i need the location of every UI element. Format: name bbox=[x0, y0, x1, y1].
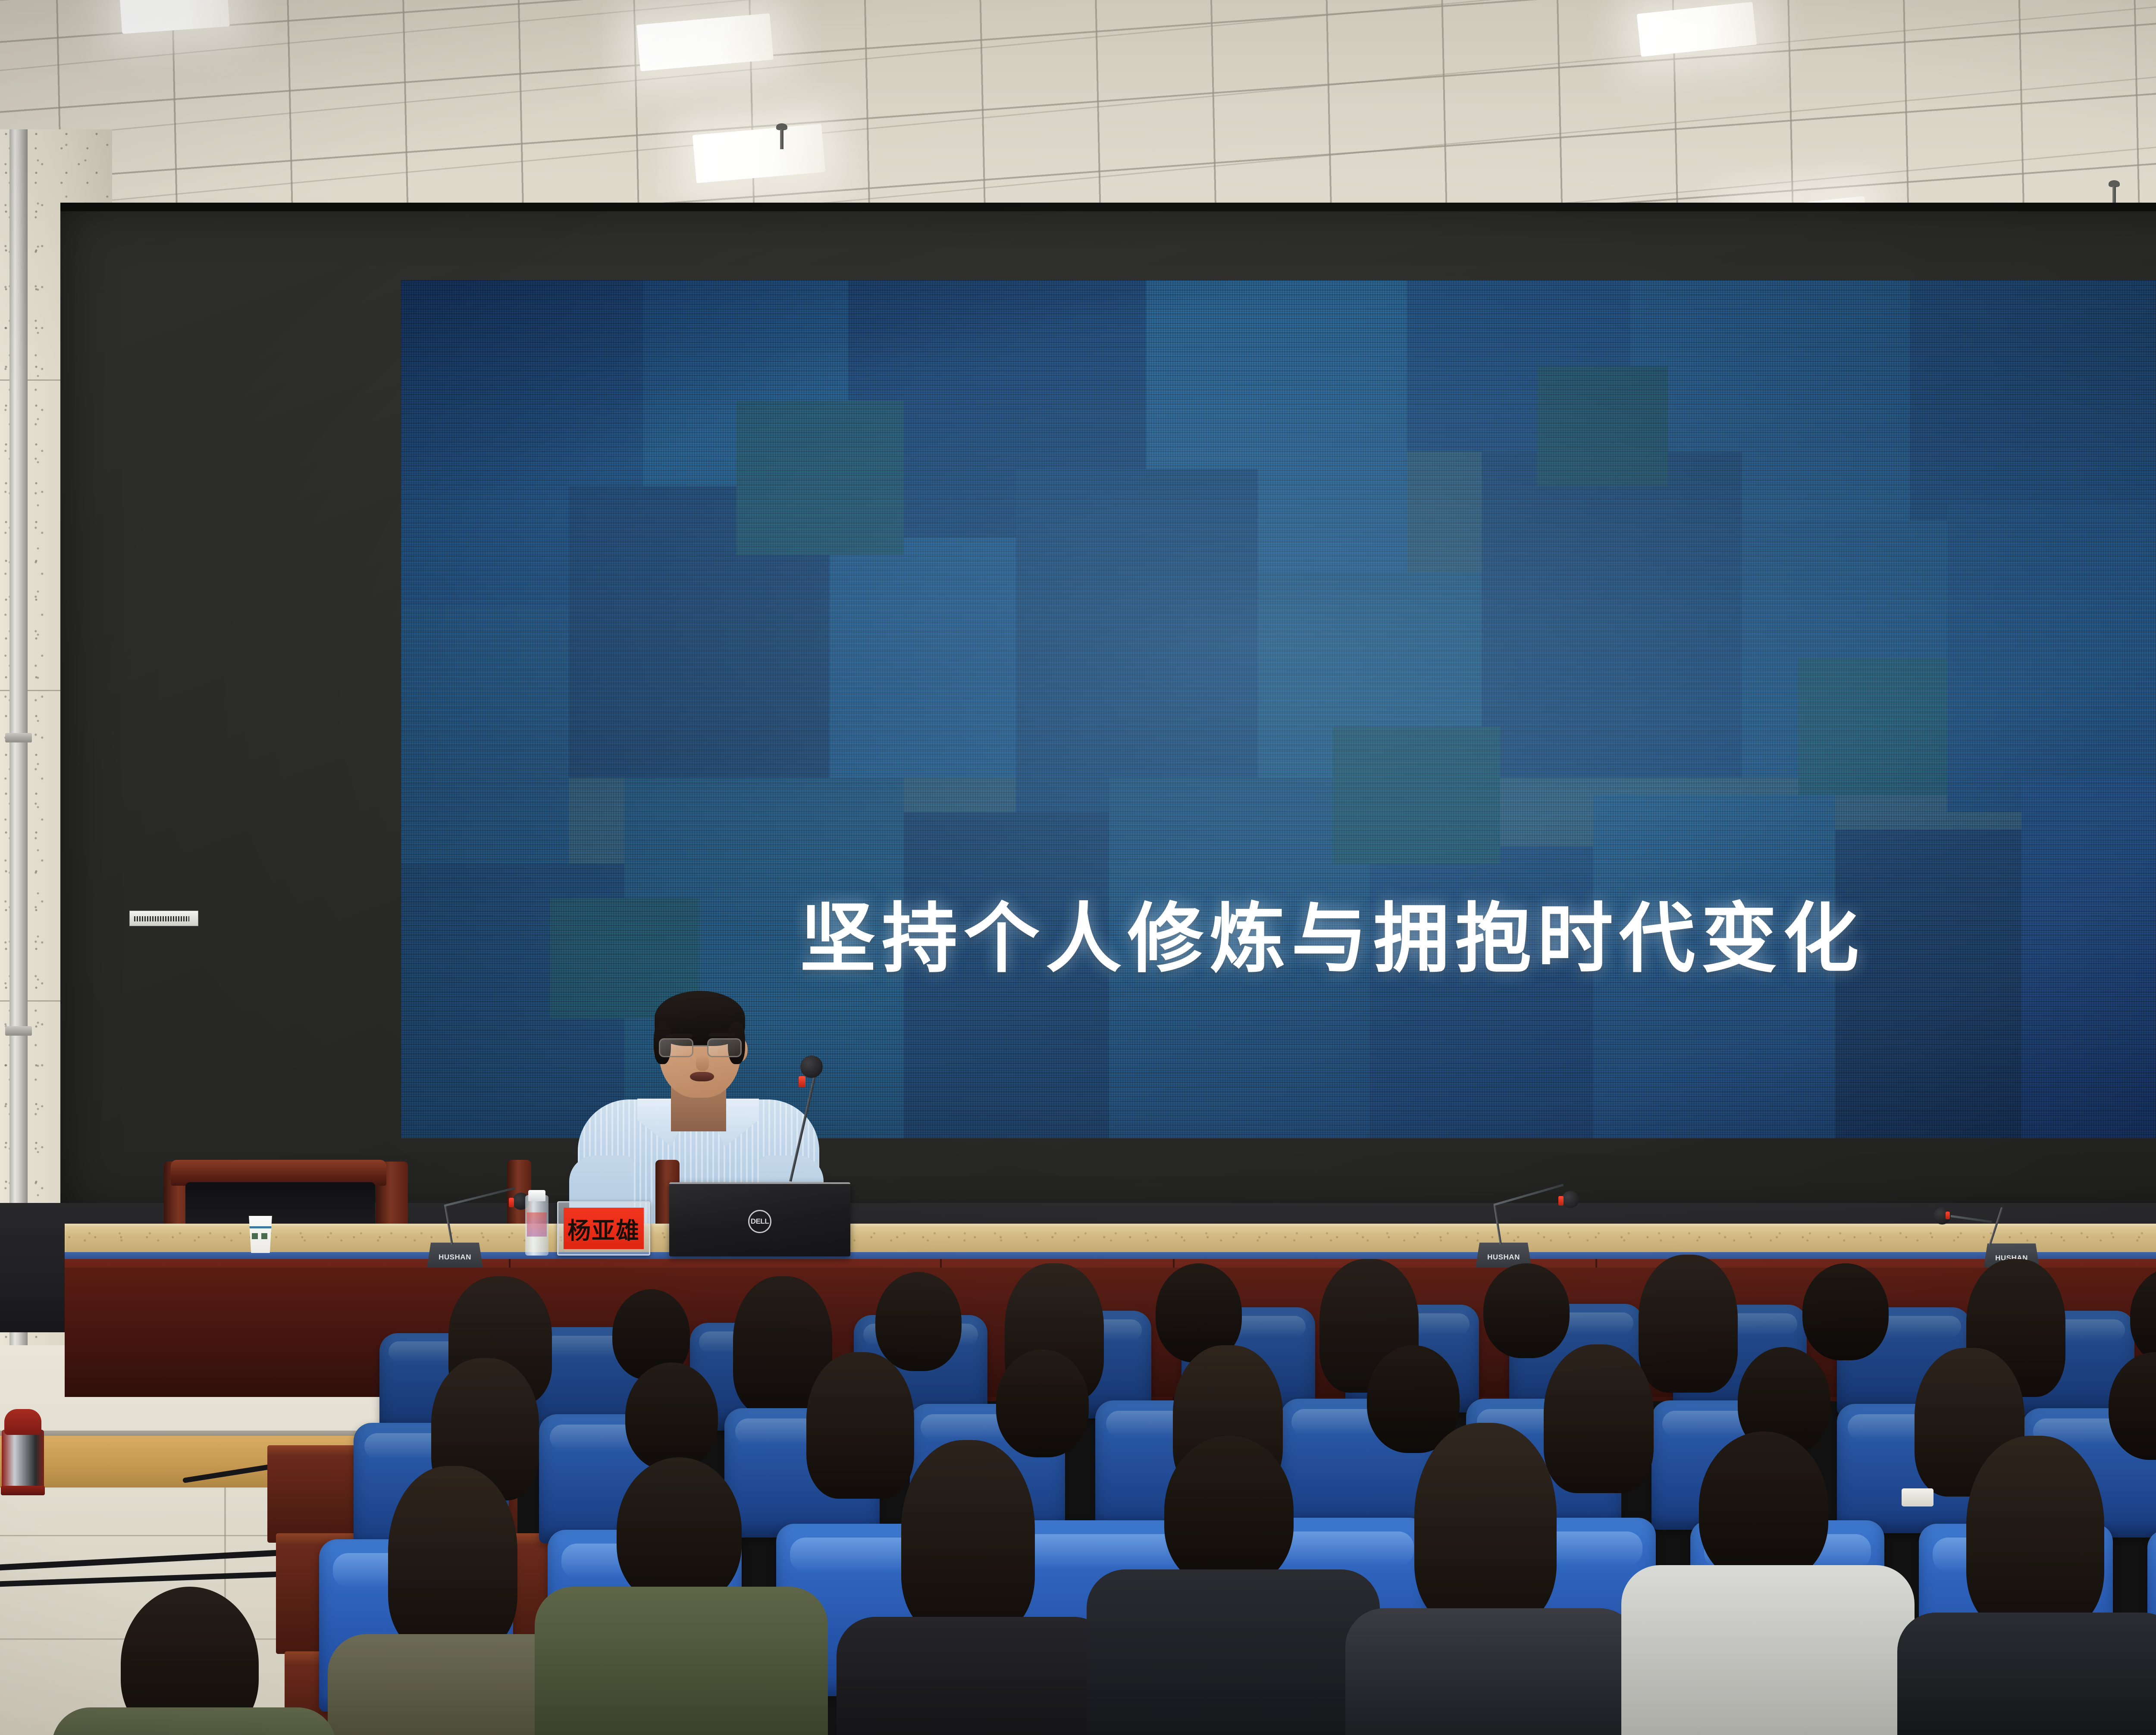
glasses-bridge bbox=[693, 1045, 707, 1046]
microphone-indicator-light bbox=[799, 1076, 805, 1087]
audience-shoulder bbox=[535, 1587, 828, 1735]
audience-shoulder bbox=[837, 1617, 1112, 1735]
slide-title: 坚持个人修炼与拥抱时代变化 bbox=[401, 901, 2156, 977]
audience-head bbox=[1164, 1436, 1294, 1587]
lens-left bbox=[659, 1038, 693, 1057]
audience-head bbox=[617, 1457, 742, 1604]
audience-head bbox=[1483, 1263, 1570, 1358]
microphone-indicator-light bbox=[1946, 1212, 1950, 1219]
audience-head bbox=[1966, 1436, 2104, 1630]
audience-head bbox=[1699, 1431, 1828, 1582]
chair-crest-rail bbox=[171, 1160, 386, 1186]
speaker-mouth bbox=[690, 1072, 714, 1081]
speaker-brow-right bbox=[709, 1033, 736, 1037]
microphone-brand-label: HUSHAN bbox=[427, 1253, 483, 1262]
presider-desk-top bbox=[65, 1224, 2156, 1255]
paper-cup bbox=[247, 1216, 274, 1253]
led-wall-top-edge bbox=[60, 203, 2156, 211]
bottle-label bbox=[527, 1212, 547, 1237]
desk-microphone-3[interactable]: HUSHAN bbox=[1984, 1199, 2087, 1268]
audience-head bbox=[875, 1272, 962, 1371]
speaker-nameplate: 杨亚雄 bbox=[564, 1208, 644, 1249]
microphone-head bbox=[1562, 1191, 1579, 1208]
equipment-label bbox=[129, 911, 198, 926]
audience-head bbox=[625, 1362, 718, 1470]
microphone-indicator-light bbox=[509, 1198, 514, 1207]
audience-head bbox=[1414, 1423, 1557, 1625]
microphone-base: HUSHAN bbox=[427, 1243, 483, 1268]
sprinkler-head-icon bbox=[776, 123, 787, 150]
audience-head bbox=[1802, 1263, 1889, 1360]
microphone-neck bbox=[1989, 1207, 2003, 1246]
microphone-neck bbox=[444, 1205, 453, 1244]
nameplate-holder: 杨亚雄 bbox=[557, 1201, 650, 1256]
microphone-brand-label: HUSHAN bbox=[1476, 1253, 1532, 1262]
desk-microphone-2[interactable]: HUSHAN bbox=[1476, 1199, 1579, 1268]
pipe-bracket bbox=[5, 733, 32, 742]
audience-shoulder bbox=[1621, 1565, 1915, 1735]
speaker-brow-left bbox=[666, 1034, 693, 1037]
speaker-nose bbox=[696, 1055, 709, 1071]
phone-device bbox=[1902, 1488, 1934, 1506]
thermos-flask bbox=[2, 1409, 44, 1495]
audience-head bbox=[1544, 1344, 1654, 1493]
lens-right bbox=[707, 1038, 742, 1057]
bottle-cap bbox=[528, 1190, 545, 1201]
audience-head bbox=[996, 1350, 1089, 1457]
dell-laptop[interactable]: DELL bbox=[669, 1182, 850, 1256]
audience-shoulder bbox=[1087, 1569, 1380, 1735]
audience-head bbox=[806, 1352, 914, 1499]
audience-shoulder bbox=[1345, 1608, 1639, 1735]
speaker-name-text: 杨亚雄 bbox=[567, 1212, 640, 1246]
desk-microphone-1[interactable]: HUSHAN bbox=[427, 1199, 530, 1268]
audience-head bbox=[1639, 1255, 1738, 1393]
audience-shoulder bbox=[1897, 1613, 2156, 1735]
lecture-hall-scene: 坚持个人修炼与拥抱时代变化 bbox=[0, 0, 2156, 1735]
audience-head bbox=[388, 1466, 517, 1651]
audience-head bbox=[901, 1440, 1035, 1634]
audience-shoulder bbox=[52, 1707, 336, 1735]
dell-logo-icon: DELL bbox=[748, 1210, 771, 1233]
microphone-indicator-light bbox=[1558, 1196, 1564, 1206]
microphone-neck bbox=[1494, 1205, 1502, 1245]
speaker-microphone-head bbox=[800, 1055, 823, 1078]
pipe-bracket bbox=[5, 1026, 32, 1036]
